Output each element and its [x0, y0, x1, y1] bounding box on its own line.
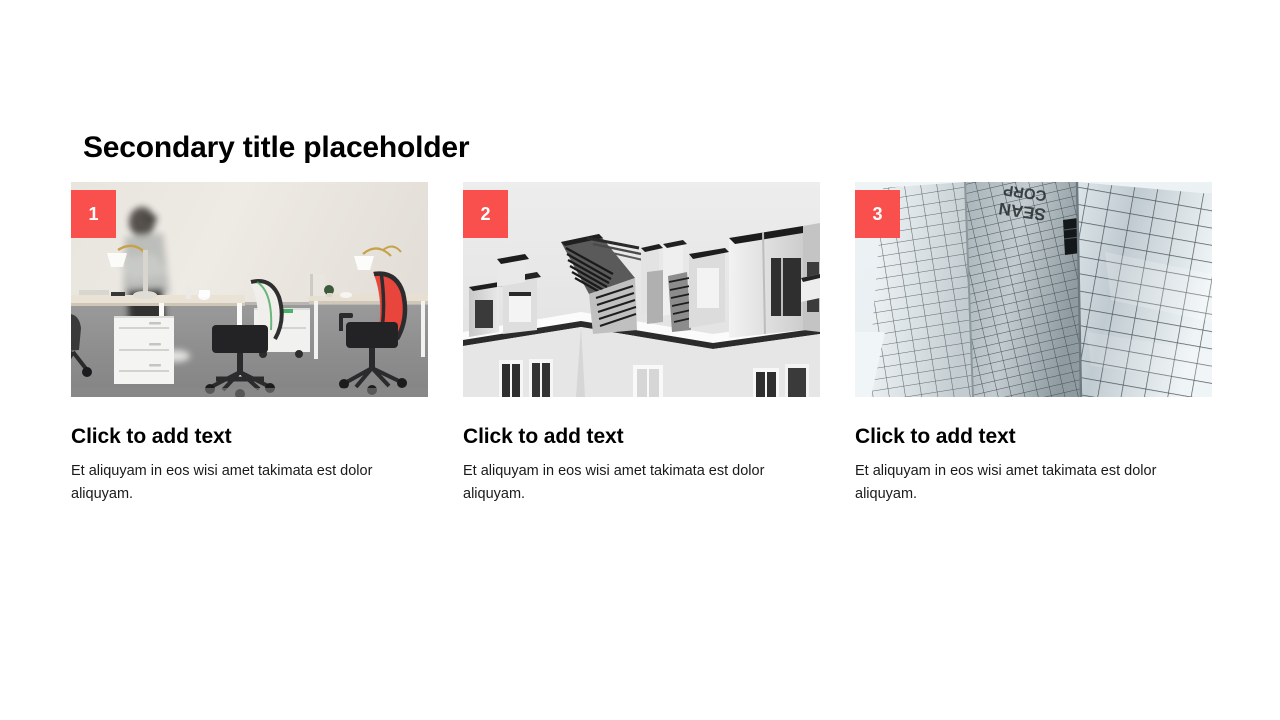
content-card[interactable]: 1 Click to add text Et aliquyam in eos w… — [71, 182, 428, 507]
card-body: Click to add text Et aliquyam in eos wis… — [855, 397, 1212, 507]
office-interior-photo — [71, 182, 428, 397]
card-text[interactable]: Et aliquyam in eos wisi amet takimata es… — [855, 460, 1200, 506]
page-title[interactable]: Secondary title placeholder — [83, 130, 469, 166]
card-heading[interactable]: Click to add text — [855, 425, 1212, 449]
building-rooftop-photo — [463, 182, 820, 397]
card-heading[interactable]: Click to add text — [71, 425, 428, 449]
card-number-badge: 3 — [855, 190, 900, 238]
content-card[interactable]: SEAN CORP — [855, 182, 1212, 507]
card-text[interactable]: Et aliquyam in eos wisi amet takimata es… — [71, 460, 416, 506]
card-number-badge: 1 — [71, 190, 116, 238]
glass-skyscraper-photo: SEAN CORP — [855, 182, 1212, 397]
card-number-badge: 2 — [463, 190, 508, 238]
card-body: Click to add text Et aliquyam in eos wis… — [71, 397, 428, 507]
card-body: Click to add text Et aliquyam in eos wis… — [463, 397, 820, 507]
card-image-office[interactable]: 1 — [71, 182, 428, 397]
presentation-slide: Secondary title placeholder — [0, 0, 1280, 720]
card-grid: 1 Click to add text Et aliquyam in eos w… — [71, 182, 1213, 507]
content-card[interactable]: 2 Click to add text Et aliquyam in eos w… — [463, 182, 820, 507]
card-image-skyscraper[interactable]: SEAN CORP — [855, 182, 1212, 397]
card-image-building[interactable]: 2 — [463, 182, 820, 397]
card-text[interactable]: Et aliquyam in eos wisi amet takimata es… — [463, 460, 808, 506]
card-heading[interactable]: Click to add text — [463, 425, 820, 449]
